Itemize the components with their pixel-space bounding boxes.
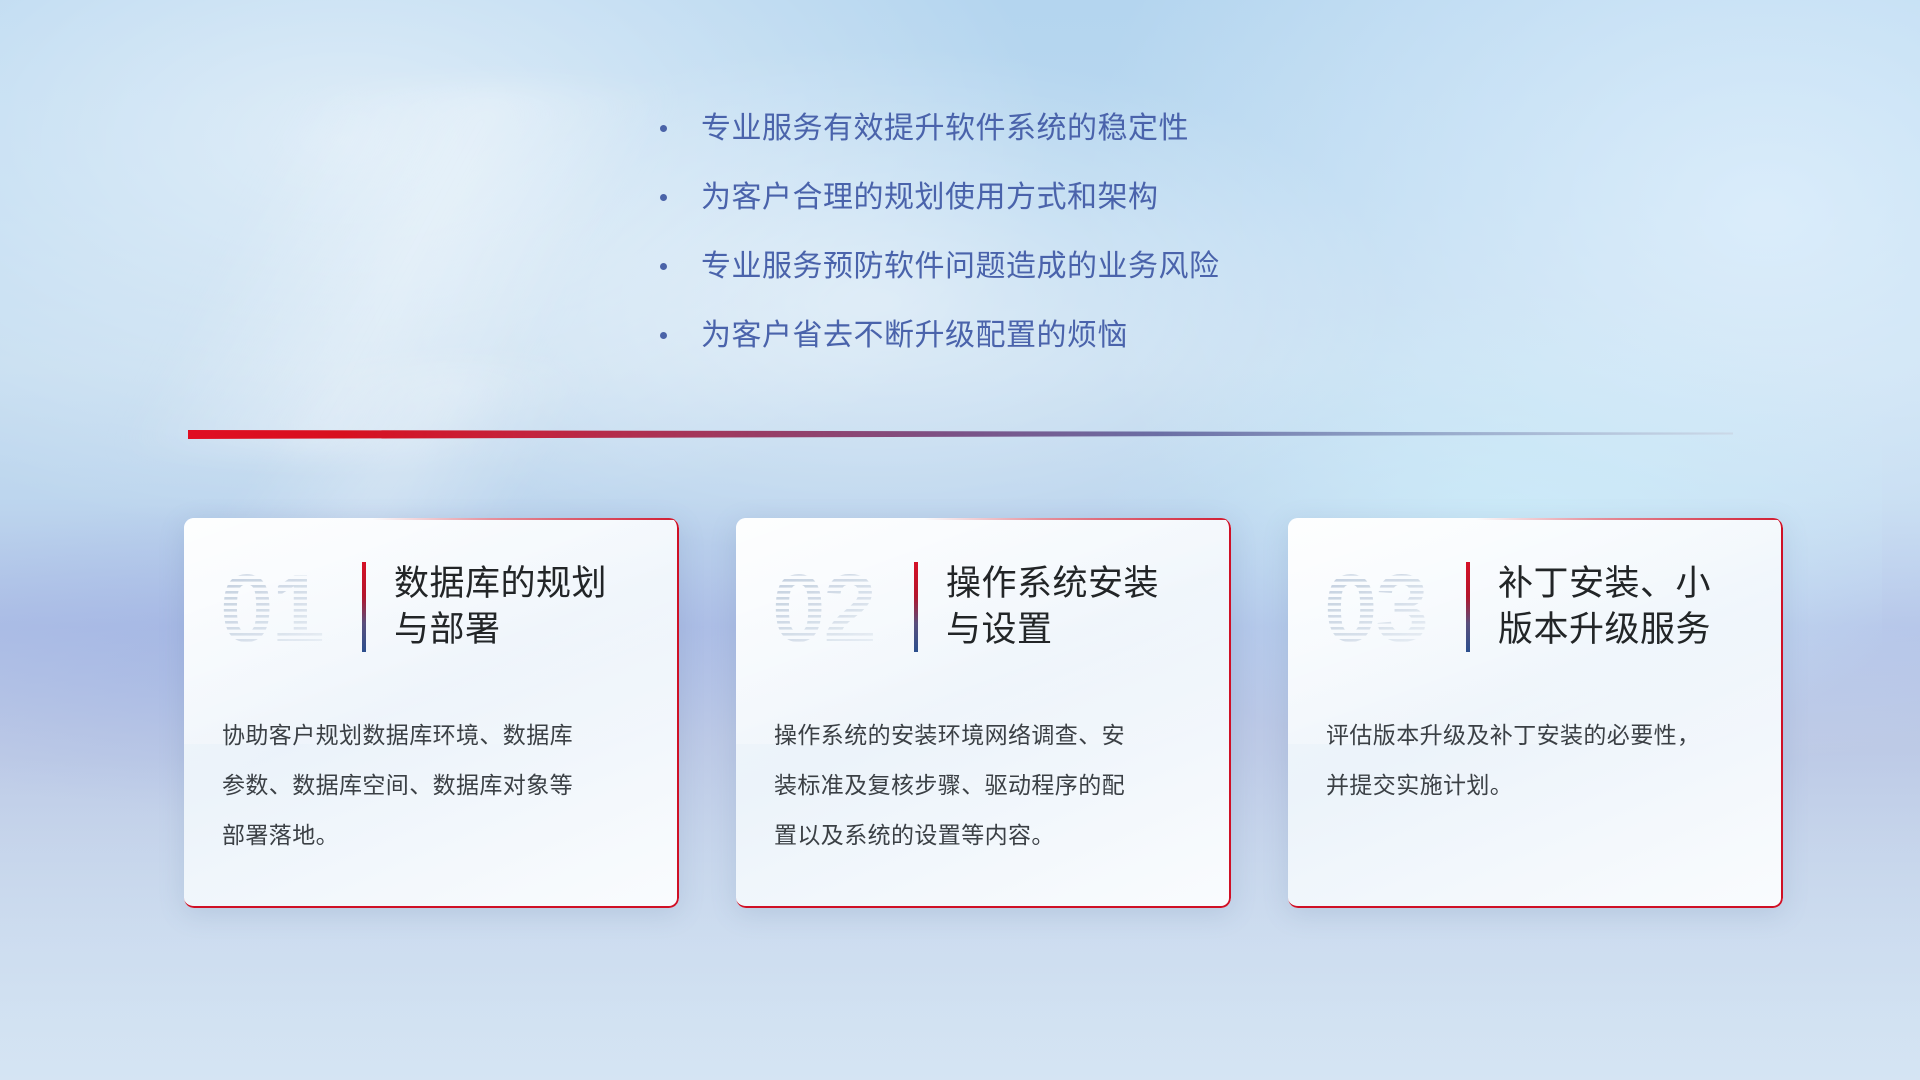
service-card-03[interactable]: 03 补丁安装、小 版本升级服务 评估版本升级及补丁安装的必要性， 并提交实施计…: [1288, 518, 1783, 908]
bullet-label: 专业服务预防软件问题造成的业务风险: [701, 246, 1220, 288]
striped-number-icon: 02: [770, 555, 900, 659]
card-header: 02 操作系统安装 与设置: [736, 518, 1231, 668]
list-item: 专业服务预防软件问题造成的业务风险: [660, 246, 1420, 288]
card-description: 评估版本升级及补丁安装的必要性， 并提交实施计划。: [1288, 668, 1783, 810]
list-item: 专业服务有效提升软件系统的稳定性: [660, 108, 1420, 150]
bullet-dot-icon: [660, 125, 667, 132]
section-divider: [188, 425, 1733, 447]
striped-number-icon: 03: [1322, 555, 1452, 659]
service-card-02[interactable]: 02 操作系统安装 与设置 操作系统的安装环境网络调查、安 装标准及复核步骤、驱…: [736, 518, 1231, 908]
card-title: 补丁安装、小 版本升级服务: [1498, 561, 1711, 653]
striped-number-icon: 01: [218, 555, 348, 659]
bullet-dot-icon: [660, 332, 667, 339]
card-description: 协助客户规划数据库环境、数据库 参数、数据库空间、数据库对象等 部署落地。: [184, 668, 679, 860]
bullet-label: 为客户合理的规划使用方式和架构: [701, 177, 1159, 219]
tapered-rule-icon: [188, 425, 1733, 447]
card-header: 03 补丁安装、小 版本升级服务: [1288, 518, 1783, 668]
service-card-list: 01 数据库的规划 与部署 协助客户规划数据库环境、数据库 参数、数据库空间、数…: [184, 518, 1784, 908]
benefits-bullet-list: 专业服务有效提升软件系统的稳定性 为客户合理的规划使用方式和架构 专业服务预防软…: [660, 108, 1420, 384]
list-item: 为客户合理的规划使用方式和架构: [660, 177, 1420, 219]
bullet-dot-icon: [660, 263, 667, 270]
service-card-01[interactable]: 01 数据库的规划 与部署 协助客户规划数据库环境、数据库 参数、数据库空间、数…: [184, 518, 679, 908]
card-title-rule: [1466, 562, 1470, 652]
card-title: 操作系统安装 与设置: [946, 561, 1159, 653]
card-title-rule: [914, 562, 918, 652]
svg-text:02: 02: [772, 555, 875, 659]
card-number-01-graphic: 01: [218, 555, 348, 659]
card-number-02-graphic: 02: [770, 555, 900, 659]
card-number-03-graphic: 03: [1322, 555, 1452, 659]
svg-text:01: 01: [220, 555, 323, 659]
list-item: 为客户省去不断升级配置的烦恼: [660, 315, 1420, 357]
bullet-dot-icon: [660, 194, 667, 201]
card-title: 数据库的规划 与部署: [394, 561, 607, 653]
card-description: 操作系统的安装环境网络调查、安 装标准及复核步骤、驱动程序的配 置以及系统的设置…: [736, 668, 1231, 860]
bullet-label: 为客户省去不断升级配置的烦恼: [701, 315, 1128, 357]
bullet-label: 专业服务有效提升软件系统的稳定性: [701, 108, 1189, 150]
card-title-rule: [362, 562, 366, 652]
svg-text:03: 03: [1324, 555, 1427, 659]
card-header: 01 数据库的规划 与部署: [184, 518, 679, 668]
